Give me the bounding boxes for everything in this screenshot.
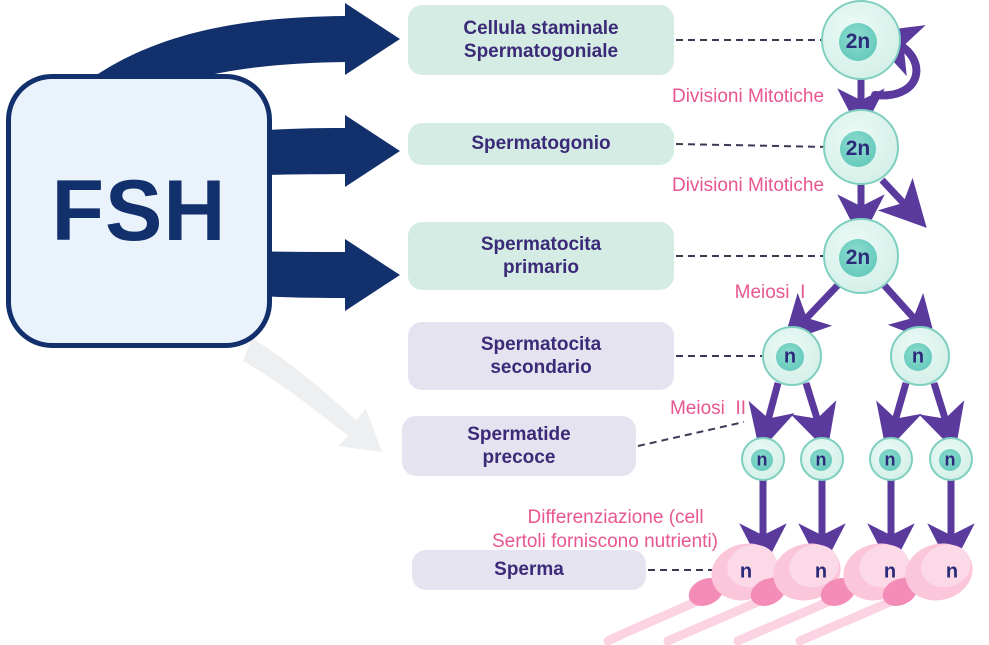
sperm-ploidy-label-1: n	[740, 561, 752, 584]
cell-ploidy-label-spermatid-1: n	[757, 450, 768, 471]
annotation-meiosi-2: Meiosi II	[648, 397, 768, 421]
stage-chip-spermatocita-primario[interactable]: Spermatocitaprimario	[408, 222, 674, 290]
cell-ploidy-label-spermatid-2: n	[816, 450, 827, 471]
annotation-divisioni-mitotiche-2: Divisioni Mitotiche	[648, 174, 848, 198]
cell-ploidy-label-stem: 2n	[846, 30, 871, 54]
stage-chip-stem[interactable]: Cellula staminaleSpermatogoniale	[408, 5, 674, 75]
stage-chip-spermatogonio-text: Spermatogonio	[471, 132, 610, 155]
cell-ploidy-label-spermatid-3: n	[885, 450, 896, 471]
faded-arrow	[243, 338, 382, 452]
stage-chip-spermatocita-secondario[interactable]: Spermatocitasecondario	[408, 322, 674, 390]
division-arrow-meiosis2-l2	[806, 383, 820, 428]
cell-ploidy-label-secondary-right: n	[912, 346, 924, 369]
cell-ploidy-label-primary: 2n	[846, 246, 871, 270]
annotation-differenziazione: Differenziazione (cellSertoli forniscono…	[455, 481, 755, 580]
division-arrow-meiosis1-right	[884, 285, 920, 325]
stage-chip-spermatogonio[interactable]: Spermatogonio	[408, 123, 674, 165]
fsh-box[interactable]: FSH	[6, 74, 272, 348]
sperm-ploidy-label-2: n	[815, 561, 827, 584]
germ-cell-group	[742, 1, 972, 480]
annotation-divisioni-mitotiche-1: Divisioni Mitotiche	[648, 85, 848, 109]
stage-chip-spermatide-precoce[interactable]: Spermatideprecoce	[402, 416, 636, 476]
sperm-ploidy-label-3: n	[884, 561, 896, 584]
division-arrow-spermatogonio-branch	[882, 180, 910, 210]
stage-chip-spermatocita-primario-text: Spermatocitaprimario	[481, 233, 601, 279]
division-arrow-meiosis2-r2	[934, 383, 948, 428]
stage-chip-spermatide-precoce-text: Spermatideprecoce	[467, 423, 570, 469]
stage-chip-spermatocita-secondario-text: Spermatocitasecondario	[481, 333, 601, 379]
cell-ploidy-label-secondary-left: n	[784, 346, 796, 369]
division-arrow-meiosis2-r1	[893, 383, 906, 428]
stage-chip-stem-text: Cellula staminaleSpermatogoniale	[463, 17, 618, 63]
cell-ploidy-label-spermatogonio: 2n	[846, 137, 871, 161]
diagram-canvas: FSH Cellula staminaleSpermatogoniale Spe…	[0, 0, 989, 645]
cell-ploidy-label-spermatid-4: n	[945, 450, 956, 471]
dashed-connector-spermatogonio	[676, 144, 830, 147]
dashed-connector-spermatid	[638, 422, 744, 446]
sperm-ploidy-label-4: n	[946, 561, 958, 584]
fsh-label: FSH	[52, 168, 227, 254]
annotation-meiosi-1: Meiosi I	[710, 281, 830, 305]
